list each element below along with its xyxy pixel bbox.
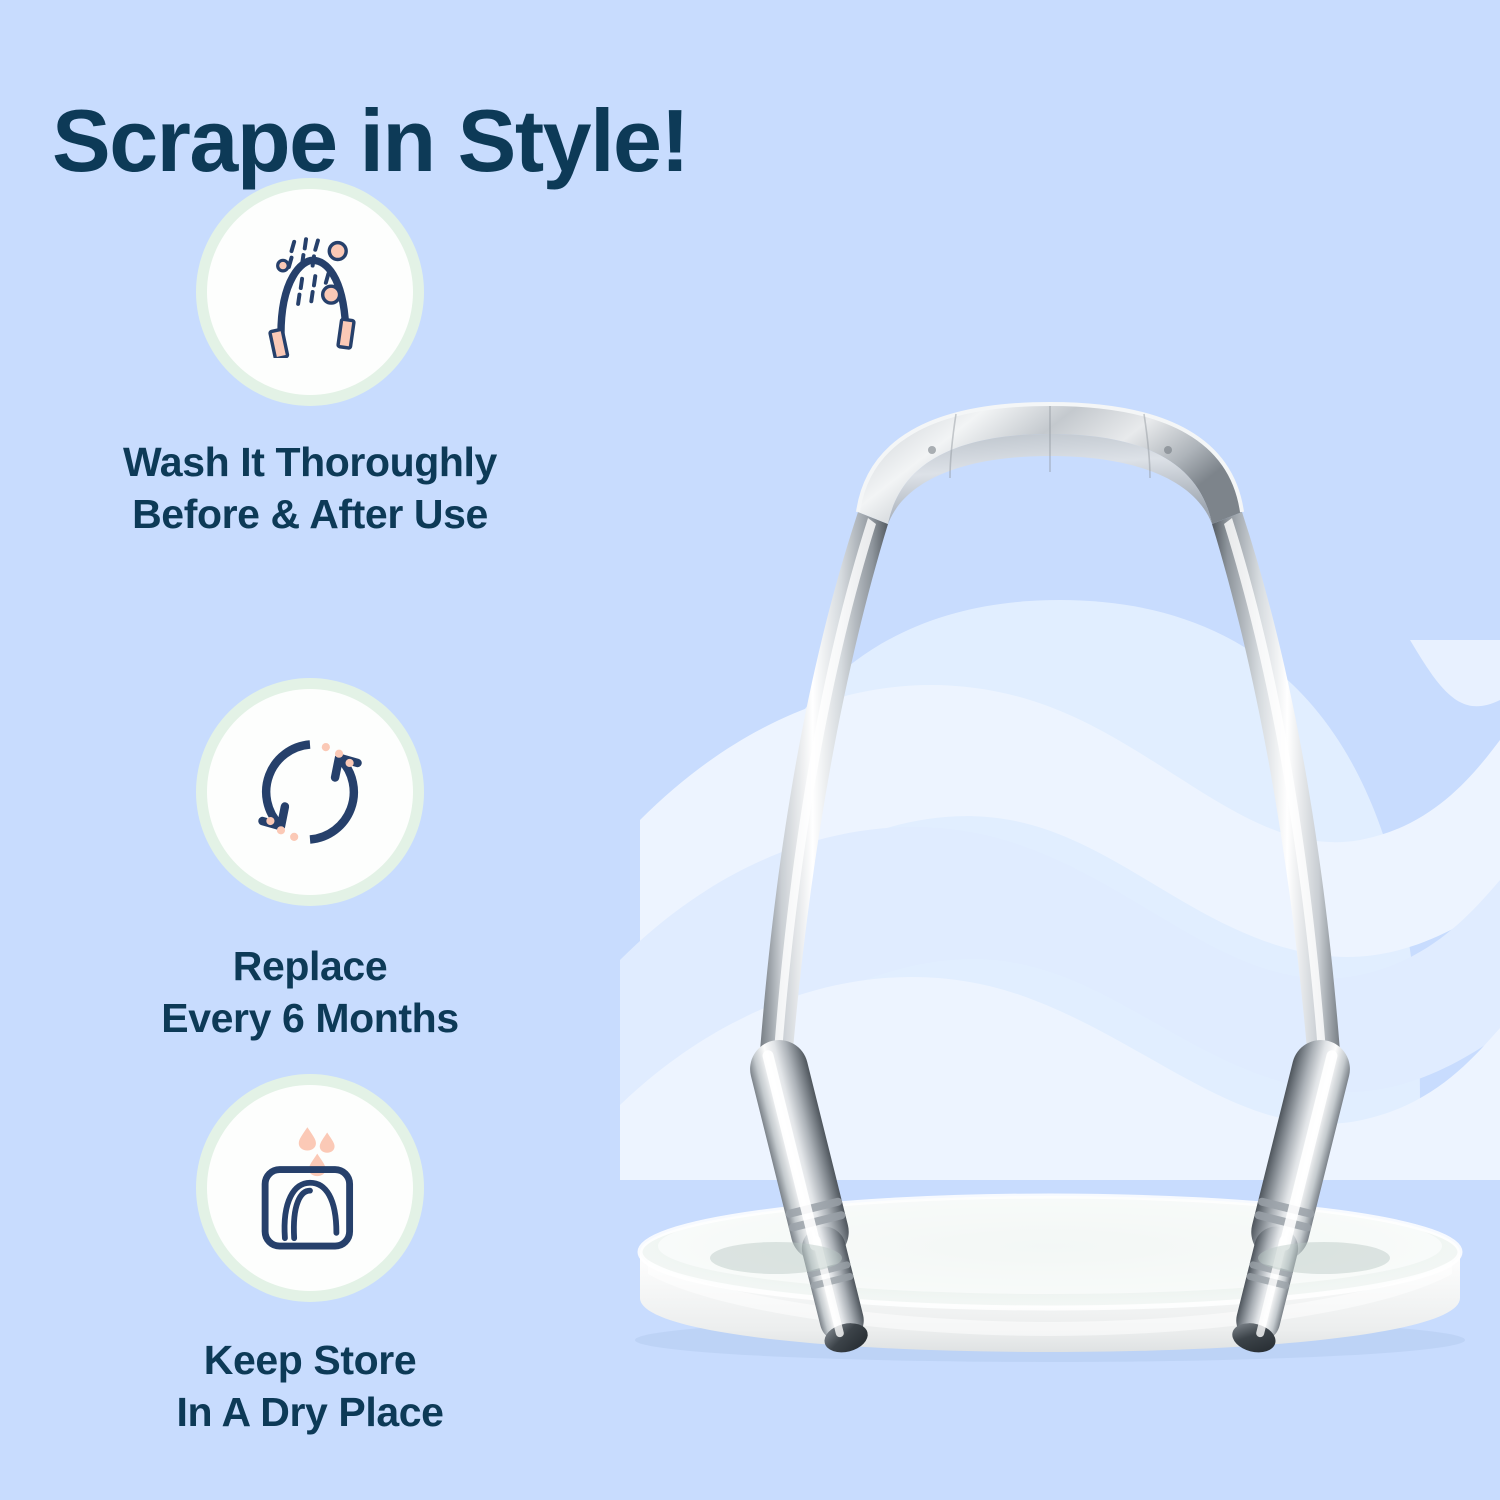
feature-item-wash: Wash It Thoroughly Before & After Use (0, 178, 620, 541)
dry-storage-box-icon (244, 1122, 376, 1254)
infographic-canvas: Scrape in Style! (0, 0, 1500, 1500)
scraper-left-rod (758, 512, 888, 1084)
feature-caption: Wash It Thoroughly Before & After Use (123, 436, 497, 541)
feature-caption-line-1: Replace (161, 940, 458, 992)
scraper-blade (858, 404, 1242, 524)
product-image-tongue-scraper (600, 400, 1500, 1420)
feature-icon-badge (196, 1074, 424, 1302)
feature-icon-badge (196, 178, 424, 406)
product-vector (600, 400, 1500, 1420)
feature-caption-line-2: In A Dry Place (176, 1386, 443, 1438)
feature-caption-line-1: Keep Store (176, 1334, 443, 1386)
feature-caption: Replace Every 6 Months (161, 940, 458, 1045)
feature-item-replace: Replace Every 6 Months (0, 678, 620, 1045)
page-title: Scrape in Style! (52, 93, 688, 188)
scraper-rinse-icon (244, 226, 376, 358)
feature-caption: Keep Store In A Dry Place (176, 1334, 443, 1439)
feature-icon-badge (196, 678, 424, 906)
refresh-cycle-icon (244, 726, 376, 858)
feature-caption-line-1: Wash It Thoroughly (123, 436, 497, 488)
feature-caption-line-2: Before & After Use (123, 488, 497, 540)
scraper-right-rod (1212, 512, 1342, 1084)
display-pedestal (640, 1196, 1460, 1352)
feature-caption-line-2: Every 6 Months (161, 992, 458, 1044)
feature-item-storage: Keep Store In A Dry Place (0, 1074, 620, 1439)
